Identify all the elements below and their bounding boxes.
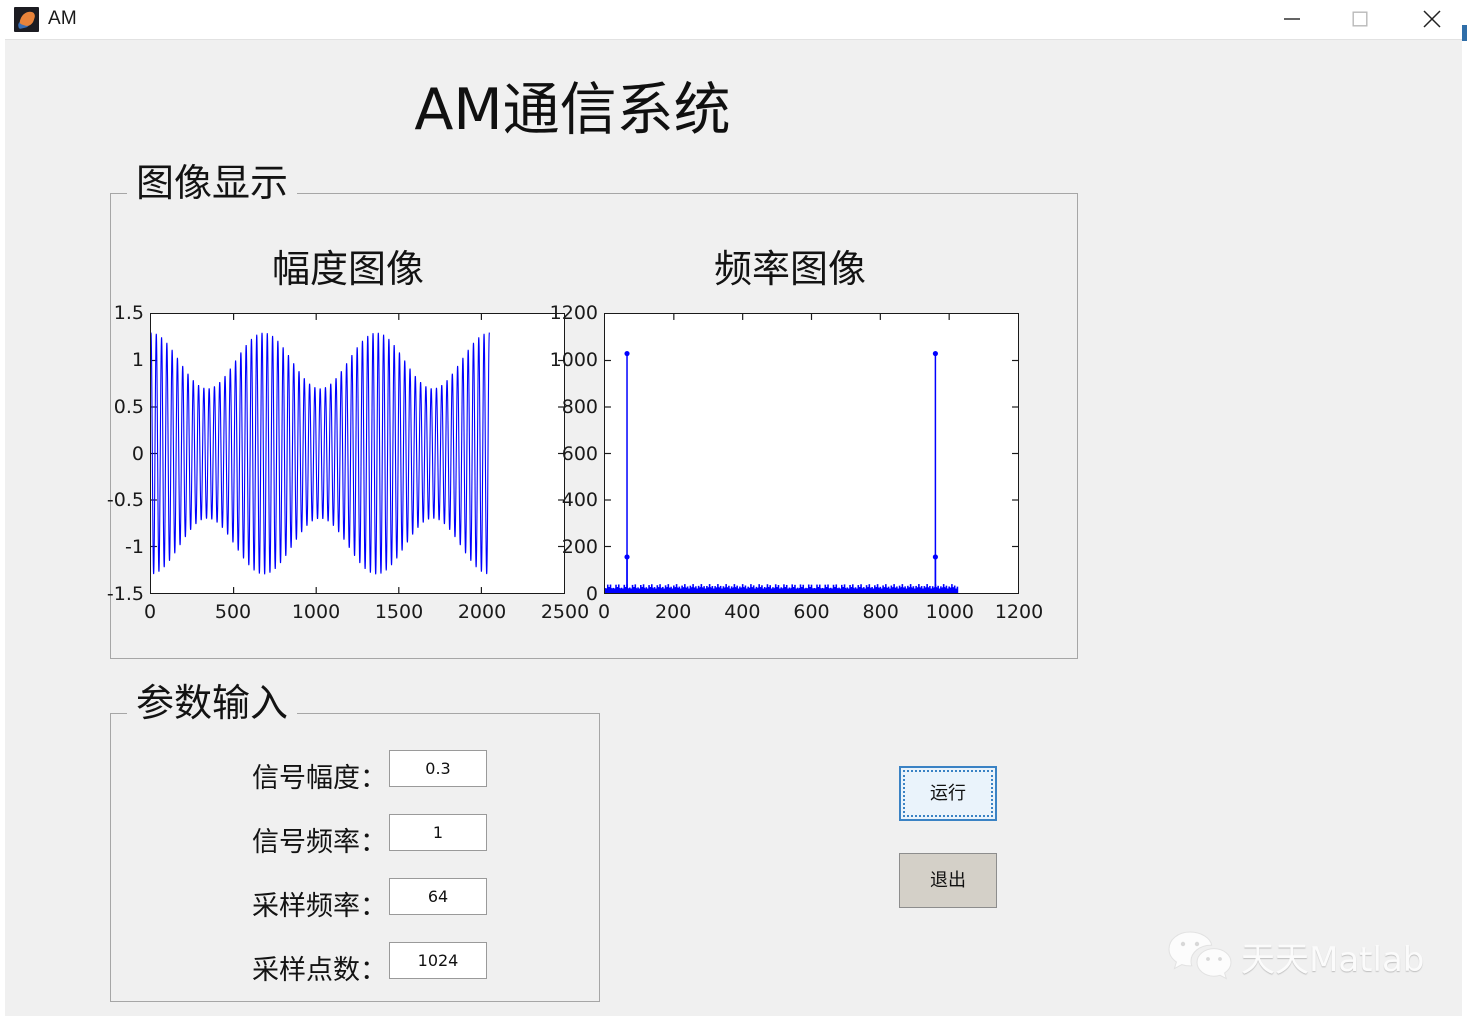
- x-tick-label: 0: [598, 601, 610, 623]
- page-title: AM通信系统: [0, 64, 1145, 146]
- signal-frequency-label: 信号频率：: [195, 820, 387, 859]
- y-tick-label: 1: [84, 349, 144, 371]
- y-tick-label: 0: [538, 583, 598, 605]
- page-edge-accent: [1462, 25, 1467, 41]
- window-title: AM: [48, 8, 77, 30]
- wechat-icon: [1166, 928, 1234, 980]
- y-tick-label: -0.5: [84, 489, 144, 511]
- x-tick-label: 1200: [995, 601, 1043, 623]
- param-row-sampling-points: 采样点数：1024: [111, 948, 599, 988]
- y-tick-label: 1.5: [84, 302, 144, 324]
- y-tick-label: 1200: [538, 302, 598, 324]
- quit-button[interactable]: 退出: [899, 853, 997, 908]
- page-edge-right: [1462, 39, 1467, 1016]
- run-button[interactable]: 运行: [899, 766, 997, 821]
- maximize-button[interactable]: [1327, 0, 1393, 38]
- frequency-plot-title: 频率图像: [714, 238, 866, 293]
- x-tick-label: 200: [655, 601, 691, 623]
- amplitude-plot-title: 幅度图像: [272, 238, 424, 293]
- params-panel-title: 参数输入: [127, 684, 297, 722]
- watermark: 天天Matlab: [1166, 926, 1431, 984]
- page-edge-left: [0, 39, 5, 1016]
- x-tick-label: 400: [724, 601, 760, 623]
- y-tick-label: 1000: [538, 349, 598, 371]
- y-tick-label: 400: [538, 489, 598, 511]
- y-tick-label: 600: [538, 443, 598, 465]
- x-tick-label: 500: [215, 601, 251, 623]
- am-waveform-line: [151, 333, 489, 575]
- signal-amplitude-input[interactable]: 0.3: [389, 750, 487, 787]
- sampling-points-input[interactable]: 1024: [389, 942, 487, 979]
- signal-amplitude-label: 信号幅度：: [195, 756, 387, 795]
- sampling-points-label: 采样点数：: [195, 948, 387, 987]
- x-tick-label: 1000: [926, 601, 974, 623]
- y-tick-label: 0.5: [84, 396, 144, 418]
- signal-frequency-input[interactable]: 1: [389, 814, 487, 851]
- param-row-sampling-frequency: 采样频率：64: [111, 884, 599, 924]
- y-tick-label: -1: [84, 536, 144, 558]
- x-tick-label: 1000: [292, 601, 340, 623]
- y-tick-label: 200: [538, 536, 598, 558]
- param-row-signal-frequency: 信号频率：1: [111, 820, 599, 860]
- am-gui-window: AM AM通信系统 图像显示 幅度图像 频率图像 -1: [0, 0, 1467, 1016]
- y-tick-label: 800: [538, 396, 598, 418]
- params-panel: 参数输入 信号幅度：0.3信号频率：1采样频率：64采样点数：1024: [110, 713, 600, 1002]
- amplitude-plot-axes: [150, 313, 565, 594]
- x-tick-label: 1500: [375, 601, 423, 623]
- sampling-frequency-label: 采样频率：: [195, 884, 387, 923]
- close-icon: [1422, 9, 1442, 29]
- x-tick-label: 0: [144, 601, 156, 623]
- param-row-signal-amplitude: 信号幅度：0.3: [111, 756, 599, 796]
- minimize-icon: [1283, 13, 1301, 25]
- close-button[interactable]: [1399, 0, 1465, 38]
- sampling-frequency-input[interactable]: 64: [389, 878, 487, 915]
- window-titlebar: AM: [0, 0, 1467, 40]
- y-tick-label: 0: [84, 443, 144, 465]
- spectrum-stems: [605, 351, 957, 593]
- x-tick-label: 600: [793, 601, 829, 623]
- minimize-button[interactable]: [1259, 0, 1325, 38]
- frequency-plot-axes: [604, 313, 1019, 594]
- frequency-plot-canvas: [605, 314, 1018, 593]
- maximize-icon: [1352, 11, 1368, 27]
- x-tick-label: 2000: [458, 601, 506, 623]
- display-panel-title: 图像显示: [127, 164, 297, 202]
- watermark-text: 天天Matlab: [1241, 932, 1424, 981]
- amplitude-plot-canvas: [151, 314, 564, 593]
- x-tick-label: 800: [863, 601, 899, 623]
- y-tick-label: -1.5: [84, 583, 144, 605]
- matlab-icon: [14, 7, 39, 32]
